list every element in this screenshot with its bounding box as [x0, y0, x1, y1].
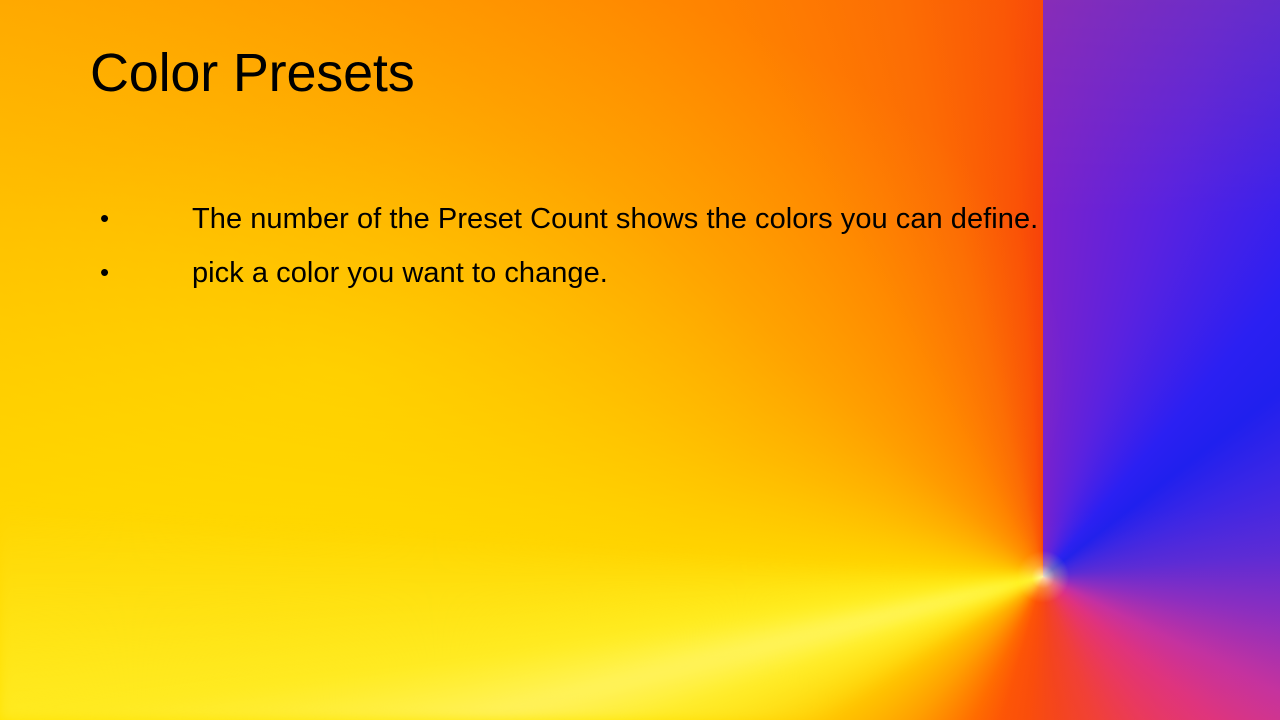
slide-content: Color Presets • The number of the Preset… [0, 0, 1280, 720]
bullet-item: • pick a color you want to change. [90, 246, 1230, 300]
bullet-point-icon: • [100, 246, 116, 300]
bullet-text: pick a color you want to change. [192, 246, 608, 300]
slide-title: Color Presets [90, 40, 1190, 106]
bullet-text: The number of the Preset Count shows the… [192, 192, 1038, 246]
bullet-point-icon: • [100, 192, 116, 246]
bullet-list: • The number of the Preset Count shows t… [90, 192, 1230, 300]
presentation-slide: Color Presets • The number of the Preset… [0, 0, 1280, 720]
bullet-item: • The number of the Preset Count shows t… [90, 192, 1230, 246]
